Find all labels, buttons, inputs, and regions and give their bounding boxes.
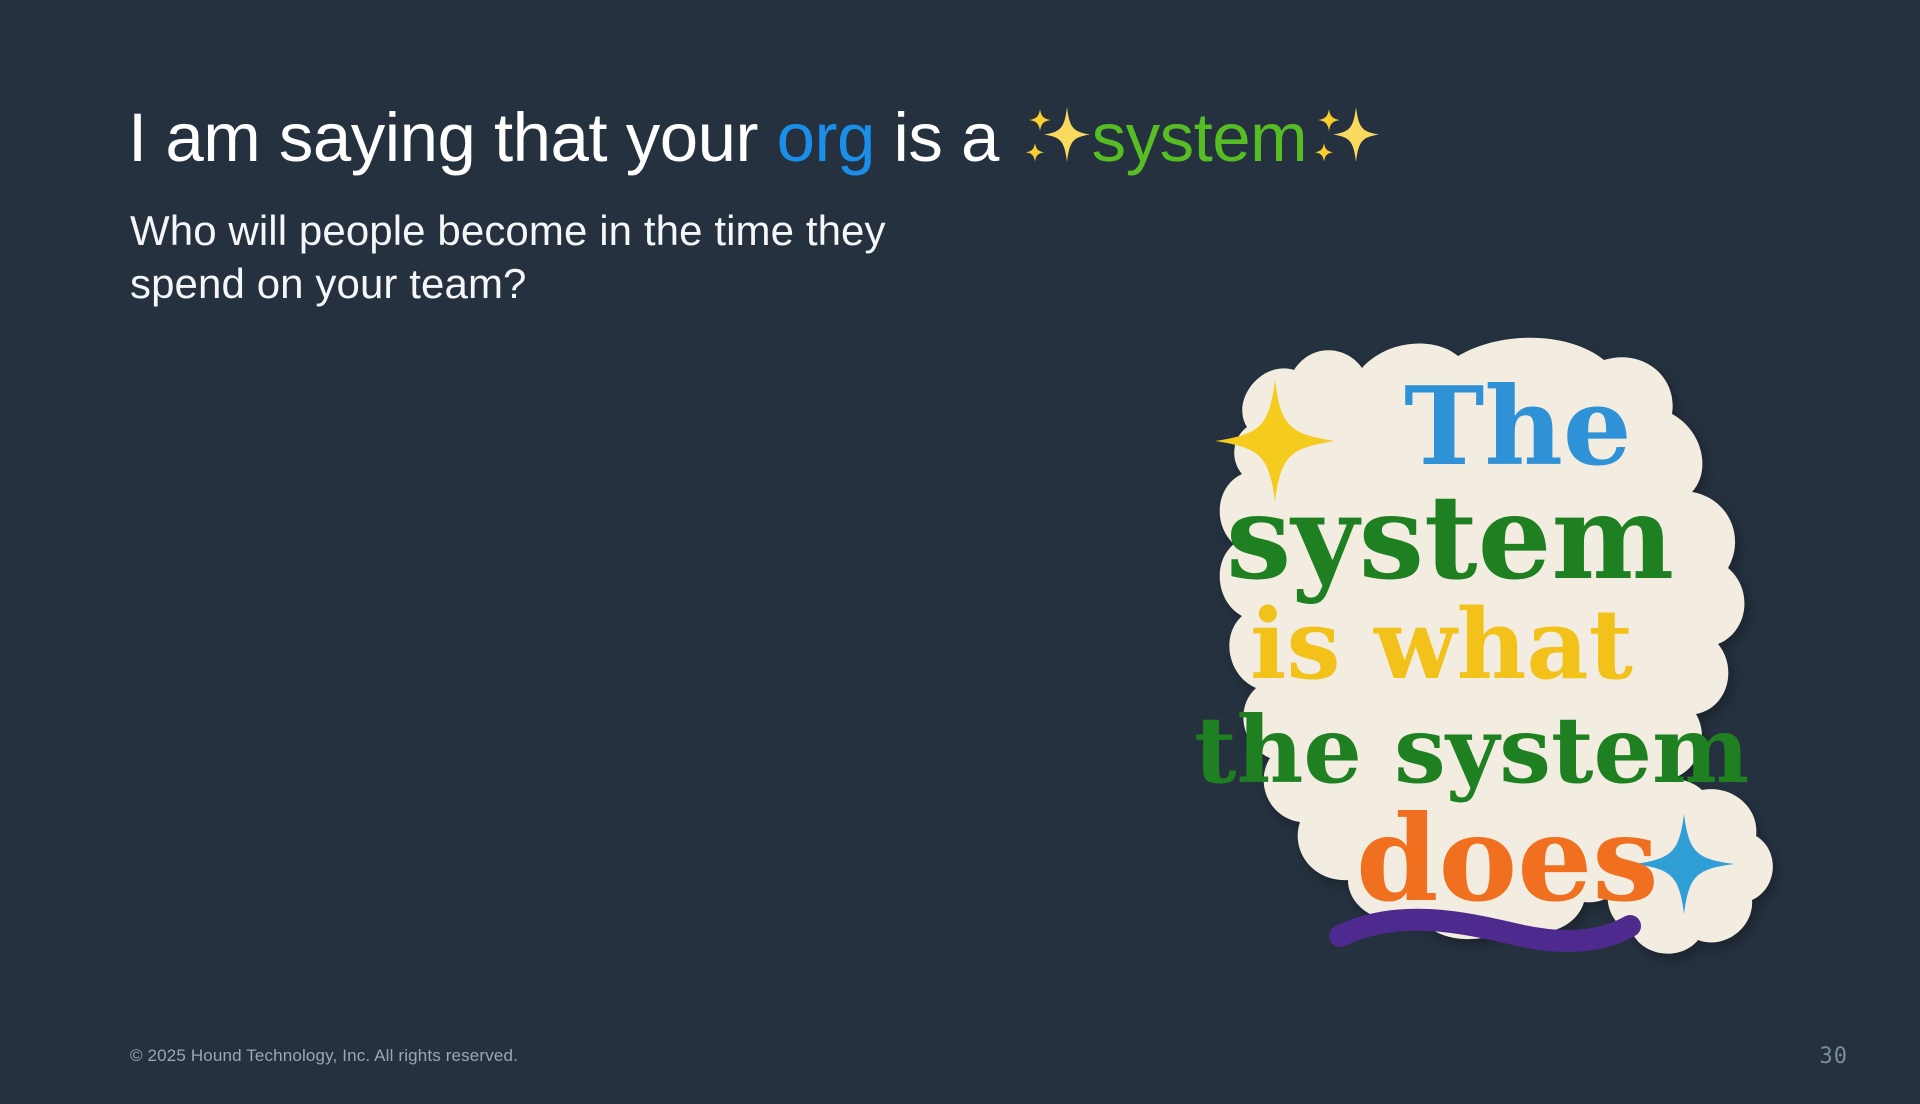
title-segment-mid: is a	[875, 99, 1018, 176]
slide-title: I am saying that your org is a system	[128, 98, 1828, 178]
page-number: 30	[1820, 1044, 1849, 1069]
title-segment-system: system	[1092, 99, 1308, 176]
title-segment-org: org	[777, 99, 875, 176]
sticker-graphic: The system is what the system does	[1172, 322, 1822, 982]
sparkles-icon-right	[1307, 101, 1381, 171]
sticker-line-does: does	[1356, 789, 1659, 928]
title-segment-lead: I am saying that your	[128, 99, 777, 176]
sticker-line-is-what: is what	[1250, 588, 1633, 701]
sticker-line-system: system	[1226, 470, 1674, 606]
slide-canvas: I am saying that your org is a system Wh…	[0, 0, 1920, 1104]
subtitle-line-2: spend on your team?	[130, 258, 1130, 311]
sparkles-icon-left	[1018, 101, 1092, 171]
copyright-notice: © 2025 Hound Technology, Inc. All rights…	[130, 1046, 518, 1066]
sticker-line-the-system: the system	[1194, 696, 1749, 804]
slide-subtitle: Who will people become in the time they …	[130, 205, 1130, 311]
subtitle-line-1: Who will people become in the time they	[130, 205, 1130, 258]
